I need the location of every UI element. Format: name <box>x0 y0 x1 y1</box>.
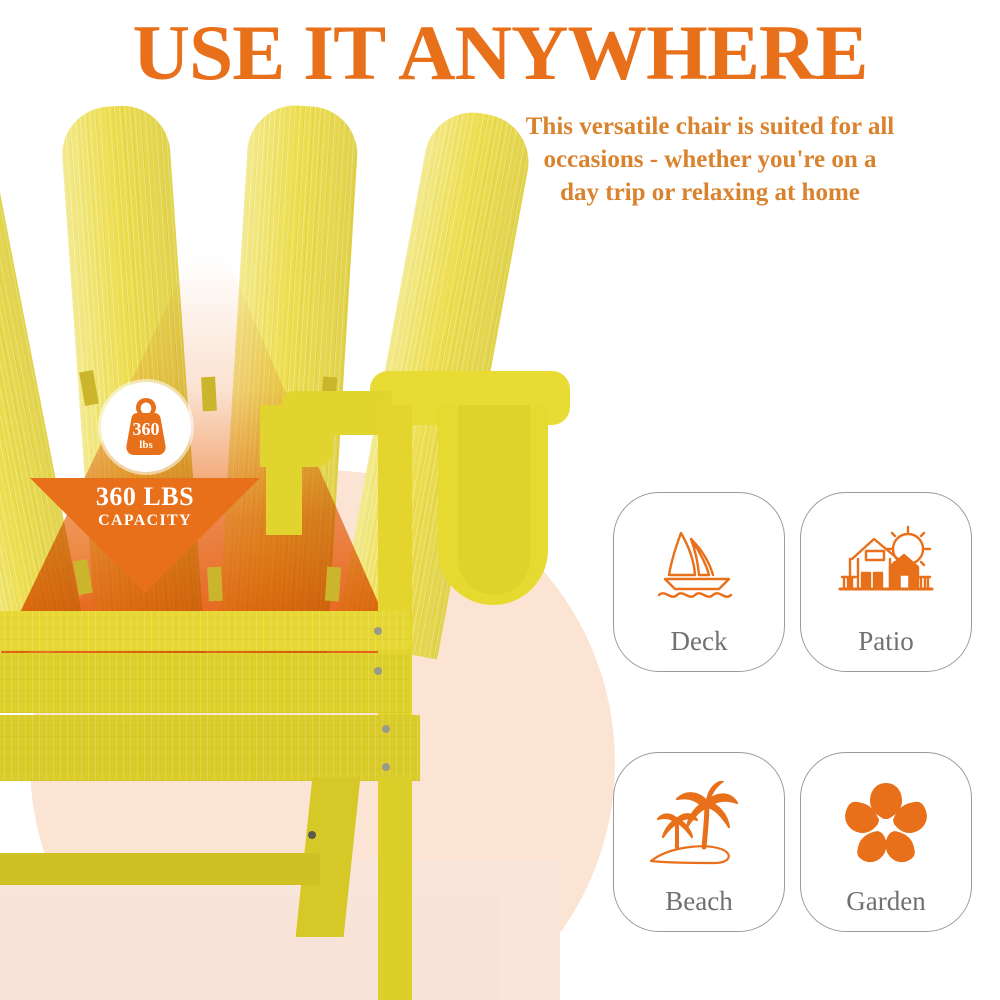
chair-rivet <box>382 763 390 771</box>
flower-icon <box>801 771 971 879</box>
chair-front-leg <box>378 777 412 1000</box>
chair-rivet <box>382 725 390 733</box>
use-case-grid: Deck Pat <box>613 492 965 942</box>
use-case-tile-patio[interactable]: Patio <box>800 492 972 672</box>
use-case-label: Deck <box>614 626 784 657</box>
weight-icon: 360 lbs <box>119 395 173 457</box>
house-sun-icon <box>801 511 971 619</box>
use-case-tile-deck[interactable]: Deck <box>613 492 785 672</box>
chair-stretcher <box>0 853 320 885</box>
use-case-label: Garden <box>801 886 971 917</box>
use-case-label: Beach <box>614 886 784 917</box>
palm-trees-icon <box>614 771 784 879</box>
use-case-tile-garden[interactable]: Garden <box>800 752 972 932</box>
chair-brace-mark <box>325 567 341 602</box>
chair-seat-board <box>0 653 410 713</box>
weight-icon-unit: lbs <box>139 439 153 451</box>
page-title: USE IT ANYWHERE <box>0 14 1000 92</box>
capacity-circle: 360 lbs <box>101 382 191 472</box>
subtitle-line-3: day trip or relaxing at home <box>430 176 990 209</box>
chair-seat-board <box>0 715 420 781</box>
sailboat-icon <box>614 511 784 619</box>
use-case-tile-beach[interactable]: Beach <box>613 752 785 932</box>
chair-arm-apron-shade <box>458 405 530 595</box>
capacity-value: 360 LBS <box>30 482 260 512</box>
capacity-label: CAPACITY <box>30 512 260 530</box>
chair-rivet <box>374 627 382 635</box>
subtitle-line-2: occasions - whether you're on a <box>430 143 990 176</box>
product-feature-banner: 360 LBS CAPACITY 360 lbs USE IT ANYWHERE… <box>0 0 1000 1000</box>
use-case-label: Patio <box>801 626 971 657</box>
subtitle: This versatile chair is suited for all o… <box>430 110 990 209</box>
chair-rivet <box>308 831 316 839</box>
chair-arm-bracket <box>260 405 332 467</box>
subtitle-line-1: This versatile chair is suited for all <box>430 110 990 143</box>
chair-rivet <box>374 667 382 675</box>
weight-icon-value: 360 <box>133 419 160 439</box>
capacity-badge: 360 LBS CAPACITY 360 lbs <box>18 382 268 597</box>
chair-seat-board <box>0 611 410 651</box>
